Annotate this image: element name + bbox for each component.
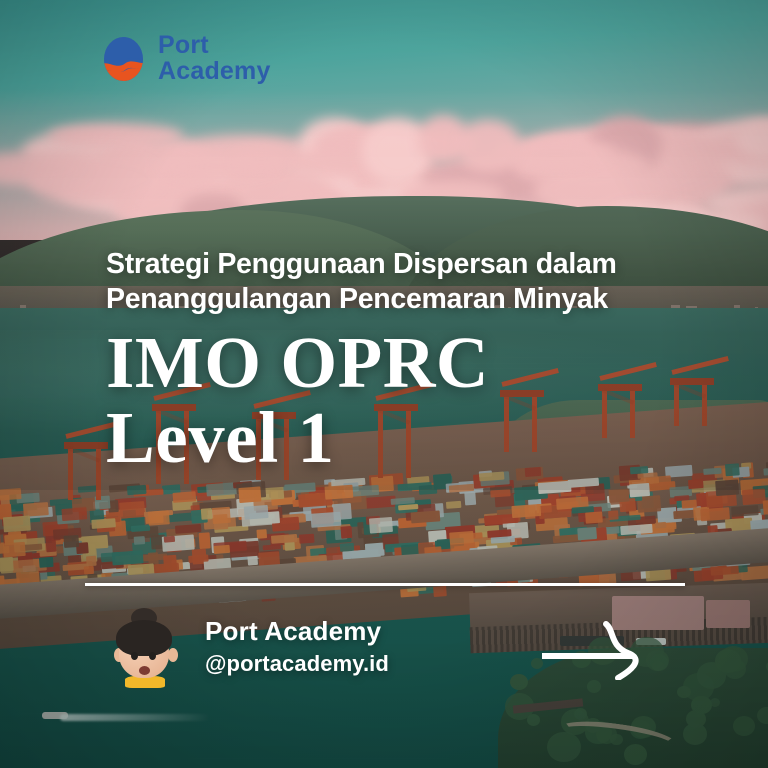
promo-poster: Port Academy Strategi Penggunaan Dispers…: [0, 0, 768, 768]
logo-word-line1: Port: [158, 33, 271, 59]
logo-wordmark: Port Academy: [158, 33, 271, 84]
brand-block: Port Academy @portacademy.id: [205, 616, 389, 677]
arrow-right-swoosh-icon[interactable]: [540, 620, 690, 680]
headline-block: Strategi Penggunaan Dispersan dalam Pena…: [106, 247, 706, 476]
person-emoji-avatar: [107, 608, 185, 686]
avatar-eye-right: [149, 652, 156, 660]
divider-line: [85, 583, 685, 586]
brand-name: Port Academy: [205, 616, 389, 647]
logo-word-line2: Academy: [158, 59, 271, 85]
poster-content: Port Academy Strategi Penggunaan Dispers…: [0, 0, 768, 768]
footer-bar: Port Academy @portacademy.id: [85, 604, 685, 694]
port-academy-circle-wave-icon: [100, 34, 147, 84]
avatar-ear-right: [168, 648, 178, 662]
social-handle[interactable]: @portacademy.id: [205, 651, 389, 677]
subtitle: Strategi Penggunaan Dispersan dalam Pena…: [106, 247, 706, 317]
logo-port-academy[interactable]: Port Academy: [100, 33, 271, 84]
avatar-mouth: [139, 666, 150, 675]
avatar-eye-left: [131, 652, 138, 660]
page-title: IMO OPRC Level 1: [106, 325, 706, 477]
avatar-hair-fringe: [119, 634, 169, 652]
